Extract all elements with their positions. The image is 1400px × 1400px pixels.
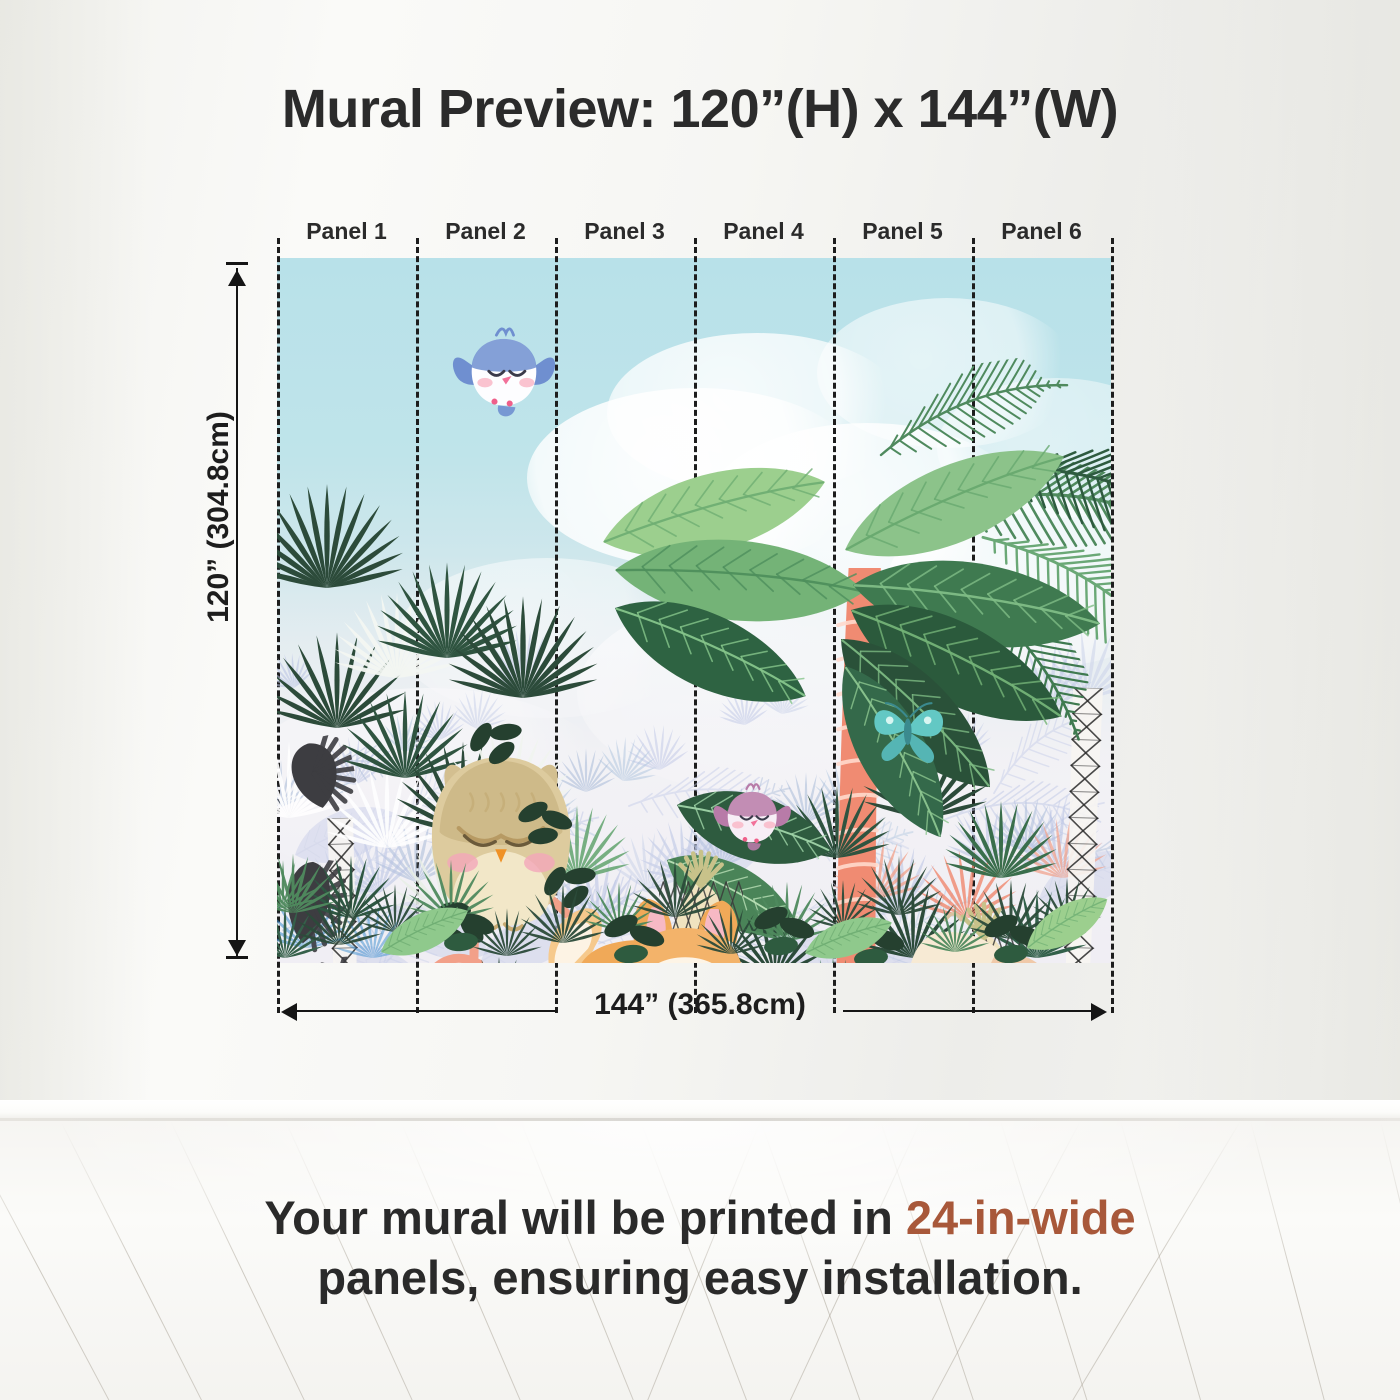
panel-label-3: Panel 3 xyxy=(555,218,694,245)
panel-label-6: Panel 6 xyxy=(972,218,1111,245)
height-arrow-down-icon xyxy=(228,940,246,956)
panel-label-1: Panel 1 xyxy=(277,218,416,245)
panel-label-5: Panel 5 xyxy=(833,218,972,245)
height-cap-top xyxy=(226,262,248,265)
panel-label-4: Panel 4 xyxy=(694,218,833,245)
leaf-sprig xyxy=(597,906,677,963)
caption-line1-before: Your mural will be printed in xyxy=(264,1191,906,1244)
fan-palm-leaf xyxy=(277,852,354,963)
height-arrow-up-icon xyxy=(228,270,246,286)
blue-bird xyxy=(447,318,561,423)
height-cap-bottom xyxy=(226,956,248,959)
height-dimension-line xyxy=(236,268,238,956)
mural-preview-page: Mural Preview: 120”(H) x 144”(W) Panel 1… xyxy=(0,0,1400,1400)
wall-shadow-right xyxy=(1140,0,1400,1122)
caption-line2: panels, ensuring easy installation. xyxy=(317,1251,1082,1304)
width-dimension-label: 144” (365.8cm) xyxy=(0,988,1400,1022)
pink-bird xyxy=(709,776,795,855)
panel-divider-line xyxy=(1111,238,1114,1013)
caption-accent: 24-in-wide xyxy=(906,1191,1136,1244)
installation-caption: Your mural will be printed in 24-in-wide… xyxy=(90,1188,1310,1308)
wall-shadow-left xyxy=(0,0,150,1122)
page-title: Mural Preview: 120”(H) x 144”(W) xyxy=(0,78,1400,140)
butterfly xyxy=(865,688,951,764)
height-dimension-label: 120” (304.8cm) xyxy=(202,292,236,742)
leaf-sprig xyxy=(513,794,583,854)
panel-label-2: Panel 2 xyxy=(416,218,555,245)
